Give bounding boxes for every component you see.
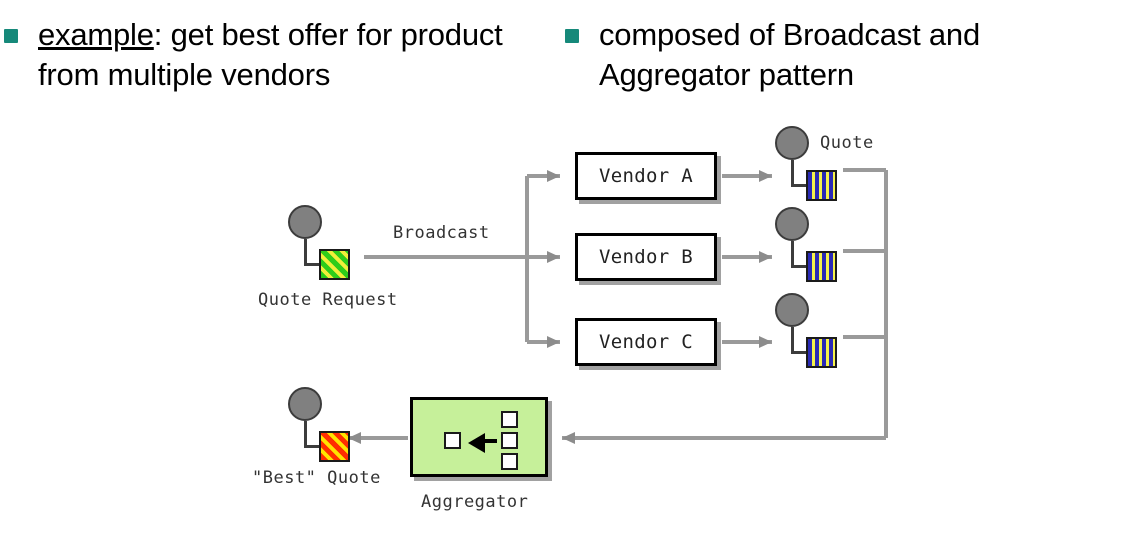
- bullet-item-composed: composed of Broadcast and Aggregator pat…: [565, 15, 1125, 95]
- diagram-connectors: [0, 110, 1140, 536]
- message-ball-icon: [775, 293, 809, 327]
- label-aggregator: Aggregator: [421, 492, 528, 512]
- aggregator-input-square-icon: [501, 411, 518, 428]
- message-payload-icon: [319, 431, 350, 462]
- message-stem: [791, 241, 794, 268]
- vendor-a-label: Vendor A: [599, 165, 693, 187]
- label-broadcast: Broadcast: [393, 223, 490, 243]
- node-aggregator[interactable]: [410, 397, 548, 477]
- square-bullet-icon: [4, 29, 18, 43]
- label-quote: Quote: [820, 133, 874, 153]
- bullet-emphasis-example: example: [38, 17, 154, 52]
- message-payload-icon: [806, 251, 837, 282]
- message-best-quote: [288, 387, 350, 459]
- node-vendor-b[interactable]: Vendor B: [575, 233, 717, 281]
- label-best-quote: "Best" Quote: [252, 468, 381, 488]
- message-stem: [791, 160, 794, 187]
- message-payload-icon: [319, 249, 350, 280]
- bullet-text-example: example: get best offer for product from…: [38, 15, 544, 95]
- message-ball-icon: [288, 205, 322, 239]
- vendor-b-label: Vendor B: [599, 246, 693, 268]
- aggregator-input-square-icon: [501, 432, 518, 449]
- message-ball-icon: [775, 126, 809, 160]
- bullet-text-composed: composed of Broadcast and Aggregator pat…: [599, 15, 1125, 95]
- aggregator-arrow-icon: [468, 433, 485, 453]
- bullet-item-example: example: get best offer for product from…: [4, 15, 544, 95]
- message-payload-icon: [806, 170, 837, 201]
- aggregator-input-square-icon: [501, 453, 518, 470]
- message-quote-c: [775, 293, 837, 365]
- label-quote-request: Quote Request: [258, 290, 398, 310]
- square-bullet-icon: [565, 29, 579, 43]
- scatter-gather-diagram: Quote Request Broadcast Vendor A Vendor …: [0, 110, 1140, 536]
- vendor-c-label: Vendor C: [599, 331, 693, 353]
- message-ball-icon: [288, 387, 322, 421]
- message-stem: [304, 421, 307, 448]
- node-vendor-c[interactable]: Vendor C: [575, 318, 717, 366]
- message-quote-request: [288, 205, 350, 277]
- message-stem: [791, 327, 794, 354]
- message-quote-b: [775, 207, 837, 279]
- aggregator-output-square-icon: [444, 432, 461, 449]
- bullet-header: example: get best offer for product from…: [0, 0, 1140, 110]
- aggregator-arrow-tail-icon: [485, 439, 497, 443]
- node-vendor-a[interactable]: Vendor A: [575, 152, 717, 200]
- message-payload-icon: [806, 337, 837, 368]
- message-stem: [304, 239, 307, 266]
- message-ball-icon: [775, 207, 809, 241]
